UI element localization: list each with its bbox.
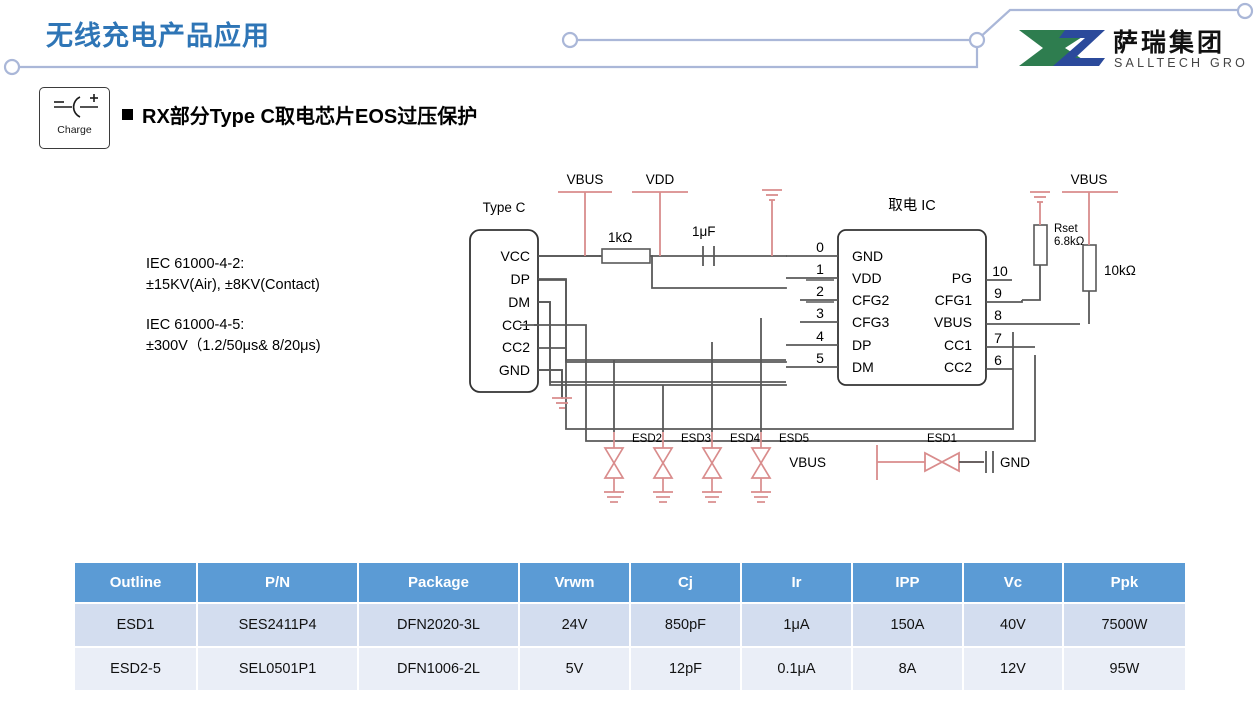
ground-symbol-typec xyxy=(552,398,572,408)
resistor-rset-name: Rset xyxy=(1054,223,1078,235)
spec-table: Outline P/N Package Vrwm Cj Ir IPP Vc Pp… xyxy=(75,563,1185,690)
ic-pin-vbus: VBUS xyxy=(934,314,972,330)
cell-ir: 0.1μA xyxy=(741,647,852,690)
ic-pin-num-10: 10 xyxy=(992,263,1008,279)
typec-pin-dp: DP xyxy=(511,271,530,287)
cell-ipp: 8A xyxy=(852,647,963,690)
esd1-gnd-label: GND xyxy=(1000,455,1030,470)
th-ppk: Ppk xyxy=(1063,563,1185,603)
ic-pin-num-7: 7 xyxy=(994,330,1002,346)
cell-vrwm: 24V xyxy=(519,603,630,647)
ic-label: 取电 IC xyxy=(888,197,936,214)
ground-symbol-cap xyxy=(762,190,782,256)
resistor-rset-value: 6.8kΩ xyxy=(1054,236,1085,248)
rail-vbus-right-label: VBUS xyxy=(1071,172,1108,187)
typec-label: Type C xyxy=(483,200,526,215)
th-outline: Outline xyxy=(75,563,197,603)
ic-pin-num-8: 8 xyxy=(994,307,1002,323)
cell-pn: SEL0501P1 xyxy=(197,647,358,690)
ic-pin-num-6: 6 xyxy=(994,352,1002,368)
cell-ppk: 95W xyxy=(1063,647,1185,690)
company-logo: 萨瑞集团 SALLTECH GROUP xyxy=(1013,24,1247,72)
cell-pn: SES2411P4 xyxy=(197,603,358,647)
cell-cj: 850pF xyxy=(630,603,741,647)
th-vrwm: Vrwm xyxy=(519,563,630,603)
table-row: ESD1 SES2411P4 DFN2020-3L 24V 850pF 1μA … xyxy=(75,603,1185,647)
logo-name-cn: 萨瑞集团 xyxy=(1113,28,1225,57)
esd1-vbus-label: VBUS xyxy=(789,455,826,470)
battery-charge-icon xyxy=(40,90,109,124)
table-header-row: Outline P/N Package Vrwm Cj Ir IPP Vc Pp… xyxy=(75,563,1185,603)
charge-icon-caption: Charge xyxy=(40,124,109,136)
charge-icon-box: Charge xyxy=(39,87,110,149)
th-pn: P/N xyxy=(197,563,358,603)
rail-vbus-left-label: VBUS xyxy=(567,172,604,187)
ic-pin-num-9: 9 xyxy=(994,285,1002,301)
esd5-label: ESD5 xyxy=(779,433,809,445)
cell-outline: ESD2-5 xyxy=(75,647,197,690)
ic-pin-dp: DP xyxy=(852,337,871,353)
ic-pin-num-2: 2 xyxy=(816,283,824,299)
th-cj: Cj xyxy=(630,563,741,603)
resistor-1k-label: 1kΩ xyxy=(608,230,632,245)
circuit-schematic: Type C VCC DP DM CC1 CC2 GND 1kΩ VBUS VD… xyxy=(0,170,1257,530)
th-vc: Vc xyxy=(963,563,1063,603)
ic-pin-num-0: 0 xyxy=(816,239,824,255)
rail-vdd-label: VDD xyxy=(646,172,675,187)
esd2-label: ESD2 xyxy=(632,433,662,445)
capacitor-1uf-label: 1μF xyxy=(692,224,716,239)
ic-pin-cc1: CC1 xyxy=(944,337,972,353)
ic-pin-vdd: VDD xyxy=(852,270,882,286)
esd3-label: ESD3 xyxy=(681,433,711,445)
cell-ppk: 7500W xyxy=(1063,603,1185,647)
ic-pin-dm: DM xyxy=(852,359,874,375)
esd1-label: ESD1 xyxy=(927,433,957,445)
resistor-10k xyxy=(1083,245,1096,291)
th-ipp: IPP xyxy=(852,563,963,603)
cell-package: DFN2020-3L xyxy=(358,603,519,647)
cell-vc: 12V xyxy=(963,647,1063,690)
cell-cj: 12pF xyxy=(630,647,741,690)
table-row: ESD2-5 SEL0501P1 DFN1006-2L 5V 12pF 0.1μ… xyxy=(75,647,1185,690)
cell-ir: 1μA xyxy=(741,603,852,647)
bullet-square-icon xyxy=(122,109,133,120)
cell-vc: 40V xyxy=(963,603,1063,647)
cell-package: DFN1006-2L xyxy=(358,647,519,690)
logo-name-en: SALLTECH GROUP xyxy=(1114,56,1247,70)
th-ir: Ir xyxy=(741,563,852,603)
ic-pin-num-5: 5 xyxy=(816,350,824,366)
cell-ipp: 150A xyxy=(852,603,963,647)
page-title: 无线充电产品应用 xyxy=(46,14,270,53)
ic-pin-num-3: 3 xyxy=(816,305,824,321)
ic-pin-pg: PG xyxy=(952,270,972,286)
ic-pin-cfg1: CFG1 xyxy=(935,292,973,308)
resistor-rset xyxy=(1034,225,1047,265)
typec-pin-vcc: VCC xyxy=(500,248,530,264)
resistor-1k xyxy=(602,249,650,263)
cell-outline: ESD1 xyxy=(75,603,197,647)
typec-pin-cc2: CC2 xyxy=(502,339,530,355)
ic-pin-cfg2: CFG2 xyxy=(852,292,890,308)
ic-pin-cfg3: CFG3 xyxy=(852,314,890,330)
esd4-label: ESD4 xyxy=(730,433,761,445)
typec-pin-dm: DM xyxy=(508,294,530,310)
bullet-heading-text: RX部分Type C取电芯片EOS过压保护 xyxy=(142,100,477,129)
ic-pin-num-1: 1 xyxy=(816,261,824,277)
ic-pin-gnd: GND xyxy=(852,248,883,264)
ic-pin-cc2: CC2 xyxy=(944,359,972,375)
th-package: Package xyxy=(358,563,519,603)
ground-symbol-rset xyxy=(1030,192,1050,225)
resistor-10k-label: 10kΩ xyxy=(1104,263,1136,278)
typec-pin-gnd: GND xyxy=(499,362,530,378)
cell-vrwm: 5V xyxy=(519,647,630,690)
bullet-heading: RX部分Type C取电芯片EOS过压保护 xyxy=(122,100,477,129)
ic-pin-num-4: 4 xyxy=(816,328,824,344)
